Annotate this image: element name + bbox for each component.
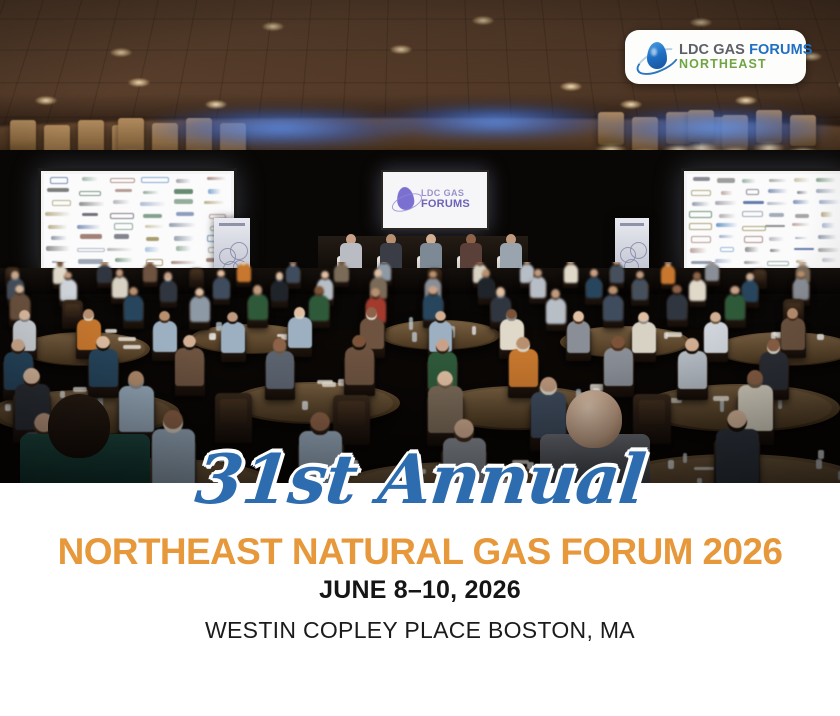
sponsor-logo xyxy=(821,212,833,216)
audience-torso xyxy=(266,351,295,389)
audience-head xyxy=(352,335,366,350)
audience-head xyxy=(338,262,345,265)
audience-torso xyxy=(567,321,591,352)
audience-member xyxy=(602,285,626,323)
audience-head xyxy=(11,271,19,280)
water-droplet-orbit-icon xyxy=(634,37,678,77)
sponsor-logo xyxy=(794,178,811,182)
sponsor-logo xyxy=(79,202,105,206)
audience-torso xyxy=(546,298,566,324)
ceiling-downlight xyxy=(35,96,57,105)
ceiling-downlight xyxy=(262,22,284,31)
ceiling-downlight xyxy=(390,45,412,54)
banner-header-bar xyxy=(219,223,245,226)
notepad xyxy=(713,396,730,401)
ceiling-downlight xyxy=(472,16,494,25)
audience-head xyxy=(19,310,30,322)
sponsor-logo xyxy=(110,178,135,183)
audience-head xyxy=(747,370,764,388)
logo-northeast-text: NORTHEAST xyxy=(679,58,813,72)
banquet-chair xyxy=(215,393,252,444)
audience-head xyxy=(273,338,287,353)
audience-torso xyxy=(175,348,204,386)
sponsor-logo xyxy=(48,225,68,229)
sponsor-logo xyxy=(82,177,98,181)
sponsor-logo xyxy=(794,248,814,251)
audience-head xyxy=(159,311,170,323)
audience-torso xyxy=(221,322,245,353)
sponsor-logo xyxy=(742,179,756,183)
audience-torso xyxy=(213,277,230,299)
sponsor-logo xyxy=(46,246,70,251)
stage-screen-line2: FORUMS xyxy=(421,198,470,210)
sponsor-logo xyxy=(115,189,132,192)
audience-member xyxy=(219,311,247,357)
sponsor-logo xyxy=(143,191,159,194)
sponsor-logo xyxy=(51,236,67,240)
sponsor-logo xyxy=(114,223,132,230)
event-date: JUNE 8–10, 2026 xyxy=(0,578,840,603)
logo-ldc-gas-text: LDC GAS xyxy=(679,42,749,58)
sponsor-logo xyxy=(721,191,733,195)
sponsor-logo-wall-left xyxy=(44,174,231,267)
audience-torso xyxy=(603,295,623,321)
audience-head xyxy=(613,262,620,266)
stage-screen-center: LDC GAS FORUMS xyxy=(381,170,489,230)
audience-member xyxy=(263,337,297,393)
audience-member xyxy=(122,285,146,323)
sponsor-logo xyxy=(793,200,810,204)
coffee-cup xyxy=(5,404,11,411)
ceiling-downlight xyxy=(735,96,757,105)
chandelier-shade xyxy=(10,120,36,152)
audience-torso xyxy=(271,280,288,302)
sponsor-logo xyxy=(818,235,838,239)
sponsor-logo xyxy=(692,202,710,205)
audience-head xyxy=(310,412,330,435)
audience-torso xyxy=(60,279,77,301)
sponsor-logo xyxy=(45,212,71,216)
sponsor-logo xyxy=(816,178,836,182)
audience-torso xyxy=(248,294,268,320)
notepad xyxy=(322,382,336,388)
audience-head xyxy=(672,285,681,295)
event-promo-poster: LDC GAS FORUMS xyxy=(0,0,840,716)
audience-head xyxy=(321,271,329,280)
audience-member xyxy=(270,271,290,303)
sponsor-logo xyxy=(77,248,105,253)
audience-head xyxy=(314,286,323,296)
sponsor-logo xyxy=(689,223,712,229)
sponsor-logo xyxy=(690,248,706,252)
sponsor-logo xyxy=(744,236,763,243)
banner-header-bar xyxy=(620,223,644,226)
sponsor-logo xyxy=(795,214,809,218)
audience-head xyxy=(496,287,505,297)
audience-member xyxy=(188,286,212,324)
audience-head xyxy=(693,272,701,281)
sponsor-logo xyxy=(176,212,194,216)
audience-torso xyxy=(89,349,118,387)
audience-member xyxy=(342,333,376,389)
audience-head xyxy=(366,307,377,319)
sponsor-logo xyxy=(77,225,101,229)
audience-member xyxy=(159,271,179,303)
audience-torso xyxy=(564,264,578,282)
sponsor-logo xyxy=(691,236,711,243)
sponsor-logo xyxy=(797,191,808,194)
audience-head xyxy=(590,269,598,278)
sponsor-logo xyxy=(146,237,160,241)
audience-member xyxy=(246,284,270,322)
orbit-ring-icon xyxy=(389,190,424,216)
audience-head xyxy=(685,338,699,353)
audience-member xyxy=(601,334,635,390)
sponsor-screen-left xyxy=(38,168,237,273)
audience-head xyxy=(240,262,247,265)
audience-member xyxy=(565,310,593,356)
audience-head xyxy=(294,307,305,319)
audience-member xyxy=(630,270,650,302)
audience-torso xyxy=(604,348,633,386)
audience-torso xyxy=(678,351,707,389)
coffee-cup xyxy=(209,333,215,340)
audience-head xyxy=(551,289,560,299)
logo-forums-text: FORUMS xyxy=(749,42,812,58)
audience-member xyxy=(173,333,207,389)
sponsor-logo xyxy=(768,189,788,193)
audience-head xyxy=(276,272,284,281)
coffee-cup xyxy=(817,334,824,341)
event-headline: NORTHEAST NATURAL GAS FORUM 2026 xyxy=(6,533,833,571)
banner-circle xyxy=(230,242,248,260)
sponsor-logo xyxy=(113,200,131,205)
sponsor-logo xyxy=(769,213,783,217)
logo-line-1: LDC GAS FORUMS xyxy=(679,43,813,58)
sponsor-logo-wall-right xyxy=(687,174,840,267)
sponsor-logo xyxy=(795,237,808,240)
audience-torso xyxy=(610,264,624,282)
sponsor-logo xyxy=(107,248,134,251)
audience-torso xyxy=(237,263,251,281)
sponsor-logo xyxy=(169,223,195,228)
audience-head xyxy=(163,410,183,433)
audience-head xyxy=(253,285,262,295)
sponsor-logo xyxy=(174,189,193,194)
audience-member xyxy=(58,271,78,303)
audience-head xyxy=(57,262,64,267)
audience-member xyxy=(688,271,708,303)
audience-head xyxy=(101,262,108,266)
audience-head xyxy=(436,339,450,354)
audience-head xyxy=(195,288,204,298)
audience-head xyxy=(183,335,197,350)
sponsor-screen-right xyxy=(681,168,840,273)
audience-head xyxy=(573,311,584,323)
blue-cove-light-right xyxy=(600,108,830,148)
sponsor-logo xyxy=(145,225,164,229)
paper-sheet xyxy=(73,387,87,392)
audience-head xyxy=(129,287,138,297)
sponsor-logo xyxy=(816,189,837,193)
ceiling-downlight xyxy=(560,82,582,91)
sponsor-logo xyxy=(80,234,102,239)
audience-member xyxy=(666,284,690,322)
audience-head xyxy=(638,312,649,324)
sponsor-logo xyxy=(746,189,759,195)
audience-head xyxy=(83,309,94,321)
audience-member xyxy=(608,262,625,285)
event-venue: WESTIN COPLEY PLACE BOSTON, MA xyxy=(0,619,840,642)
sponsor-logo xyxy=(204,201,226,204)
audience-head xyxy=(534,269,542,278)
water-bottle xyxy=(409,317,413,330)
sponsor-logo xyxy=(822,223,835,228)
audience-head xyxy=(727,410,747,433)
sponsor-logo xyxy=(745,247,759,252)
notepad xyxy=(105,329,118,333)
audience-torso xyxy=(143,264,157,282)
ceiling-downlight xyxy=(690,18,712,27)
audience-torso xyxy=(689,279,706,301)
audience-head xyxy=(96,336,110,351)
sponsor-logo xyxy=(140,202,165,206)
audience-member xyxy=(212,268,232,300)
audience-member xyxy=(142,262,159,284)
sponsor-logo xyxy=(691,190,711,195)
audience-head xyxy=(435,311,446,323)
sponsor-logo xyxy=(174,236,194,240)
ldc-gas-forums-logo-badge[interactable]: LDC GAS FORUMS NORTHEAST xyxy=(625,30,806,84)
banner-circle xyxy=(630,242,647,259)
ceiling-downlight xyxy=(128,78,150,87)
audience-head xyxy=(116,269,124,278)
sponsor-logo xyxy=(176,179,191,184)
audience-head xyxy=(608,286,617,296)
ceiling-downlight xyxy=(110,48,132,57)
sponsor-logo xyxy=(767,202,788,205)
audience-torso xyxy=(190,296,210,322)
event-title-band: 31st Annual NORTHEAST NATURAL GAS FORUM … xyxy=(0,483,840,716)
audience-member xyxy=(791,270,811,302)
blue-cove-light-center xyxy=(380,104,610,140)
audience-torso xyxy=(345,347,374,385)
notepad xyxy=(118,337,135,341)
audience-head xyxy=(23,368,40,386)
sponsor-logo xyxy=(769,237,784,242)
sponsor-logo xyxy=(719,214,736,218)
sponsor-logo xyxy=(742,211,763,217)
sponsor-logo xyxy=(742,226,767,232)
audience-head xyxy=(797,271,805,280)
sponsor-logo xyxy=(717,178,735,182)
sponsor-logo xyxy=(770,249,781,252)
sponsor-logo xyxy=(719,235,735,238)
audience-torso xyxy=(334,264,348,282)
audience-head xyxy=(710,312,721,324)
sponsor-logo xyxy=(174,199,193,204)
sponsor-logo xyxy=(50,177,67,184)
audience-torso xyxy=(632,278,649,300)
sponsor-logo xyxy=(715,201,737,205)
audience-head xyxy=(516,337,530,352)
stage-screen-line1: LDC GAS xyxy=(421,188,464,198)
audience-head xyxy=(371,288,380,298)
sponsor-logo xyxy=(145,247,160,252)
sponsor-logo xyxy=(82,213,98,216)
audience-torso xyxy=(160,280,177,302)
script-title: 31st Annual xyxy=(0,446,840,514)
audience-head xyxy=(730,286,739,296)
water-bottle xyxy=(412,332,417,342)
sponsor-logo xyxy=(818,248,840,253)
audience-member xyxy=(333,262,350,284)
sponsor-logo xyxy=(114,234,129,239)
audience-torso xyxy=(705,263,719,281)
sponsor-logo xyxy=(207,177,226,180)
audience-head xyxy=(636,271,644,280)
sponsor-logo xyxy=(769,179,787,182)
paper-sheet xyxy=(123,345,142,349)
audience-head xyxy=(428,286,437,296)
sponsor-logo xyxy=(52,200,71,207)
sponsor-logo xyxy=(716,223,738,227)
audience-head xyxy=(11,339,25,354)
sponsor-logo xyxy=(765,225,785,228)
sponsor-logo xyxy=(110,213,134,220)
sponsor-logo xyxy=(208,189,222,193)
sponsor-logo xyxy=(79,191,101,196)
audience-member xyxy=(675,337,709,393)
sponsor-logo xyxy=(720,247,734,252)
audience-head xyxy=(477,262,484,266)
sponsor-logo xyxy=(743,201,764,204)
sponsor-logo xyxy=(141,177,169,183)
audience-head xyxy=(128,371,145,389)
audience-head xyxy=(746,273,754,282)
sponsor-logo xyxy=(819,200,840,204)
audience-head xyxy=(787,308,798,320)
audience-member xyxy=(660,262,677,285)
banquet-chair xyxy=(189,268,204,288)
sponsor-logo xyxy=(792,223,811,226)
audience-torso xyxy=(661,265,675,283)
water-glass xyxy=(472,326,476,335)
audience-member xyxy=(562,262,579,284)
audience-torso xyxy=(586,277,603,299)
sponsor-logo xyxy=(47,188,69,192)
audience-torso xyxy=(124,295,144,321)
audience-head xyxy=(454,419,474,442)
water-droplet-icon xyxy=(647,42,667,69)
audience-torso xyxy=(667,294,687,320)
audience-torso xyxy=(793,278,810,300)
audience-member xyxy=(235,262,252,284)
sponsor-logo xyxy=(689,211,712,218)
sponsor-logo xyxy=(176,246,191,251)
logo-wordmark: LDC GAS FORUMS NORTHEAST xyxy=(679,43,813,72)
sponsor-logo xyxy=(693,177,710,181)
audience-head xyxy=(611,336,625,351)
audience-head xyxy=(64,272,72,281)
audience-head xyxy=(429,271,437,280)
blue-cove-light-left xyxy=(150,108,410,148)
sponsor-logo xyxy=(143,214,161,218)
